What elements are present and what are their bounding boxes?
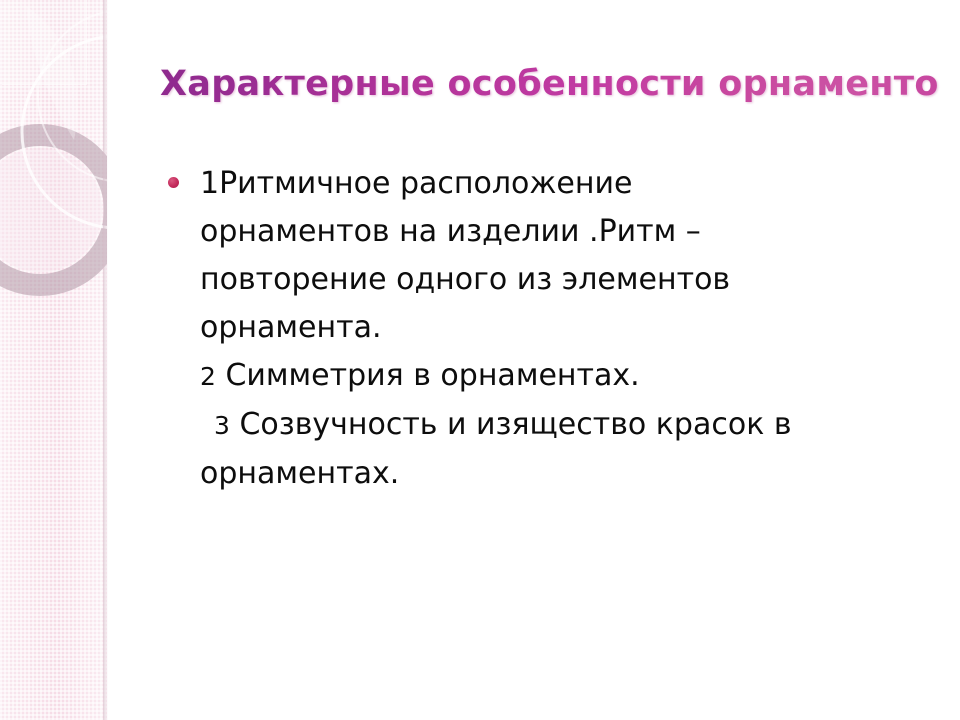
list-item-line: 1Ритмичное расположение [200, 166, 632, 201]
list-item-line: Симметрия в орнаментах. [216, 358, 640, 393]
list-item-line: повторение одного из элементов [200, 262, 730, 297]
decorative-sidebar [0, 0, 107, 720]
list-item: 1Ритмичное расположение орнаментов на из… [166, 160, 926, 498]
slide-canvas: Характерные особенности орнаментов. 1Рит… [0, 0, 960, 720]
corner-plate-decoration [2, 0, 87, 85]
list-item-number: 3 [214, 411, 230, 440]
sidebar-decoration-graphic [0, 0, 107, 720]
content-body: 1Ритмичное расположение орнаментов на из… [166, 160, 926, 498]
sidebar-edge-shadow [103, 0, 108, 720]
list-item-line: орнамента. [200, 310, 382, 345]
ring-inner-glow [0, 148, 102, 272]
list-item-line: орнаментов на изделии .Ритм – [200, 214, 701, 249]
list-item-line: орнаментах. [200, 456, 399, 491]
list-item-line: Созвучность и изящество красок в [230, 407, 792, 442]
list-item-number: 2 [200, 362, 216, 391]
bullet-icon [168, 177, 179, 188]
page-title: Характерные особенности орнаментов. [160, 62, 940, 106]
